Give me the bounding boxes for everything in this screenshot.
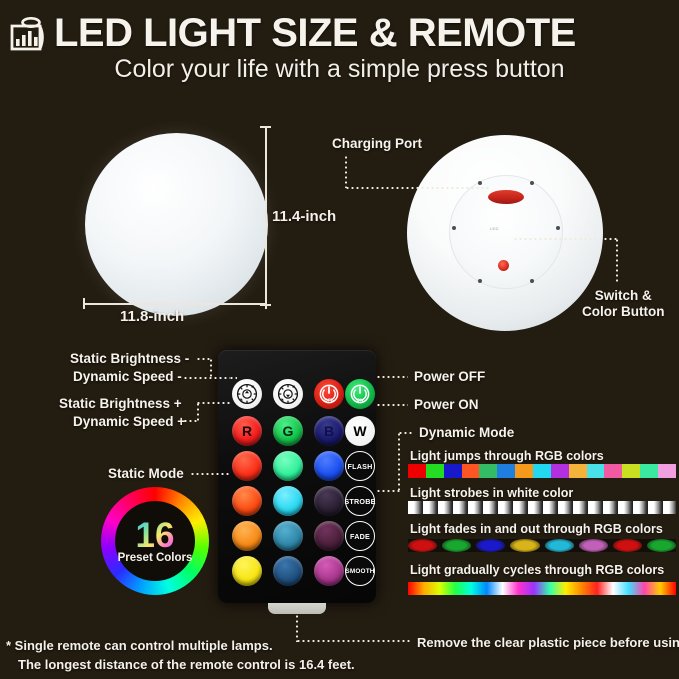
jump-color-segment-14 xyxy=(658,464,676,478)
title-row: LED LIGHT SIZE & REMOTE xyxy=(6,8,679,58)
color-button-w[interactable]: W xyxy=(345,416,375,446)
label-power-on: Power ON xyxy=(414,397,479,413)
leader-plastic-tab-h xyxy=(296,640,411,642)
mode-caption-smooth: Light gradually cycles through RGB color… xyxy=(410,563,664,577)
lamp-chart-logo-icon xyxy=(6,11,50,55)
mode-button-fade-label: FADE xyxy=(350,532,370,541)
color-button-10[interactable] xyxy=(232,556,262,586)
charging-port-label: Charging Port xyxy=(332,136,422,152)
infographic-canvas: LED LIGHT SIZE & REMOTE Color your life … xyxy=(0,0,679,679)
fade-color-pill-5 xyxy=(579,539,608,552)
jump-color-segment-11 xyxy=(604,464,622,478)
height-dimension-label: 11.4-inch xyxy=(272,208,336,225)
jump-color-segment-5 xyxy=(497,464,515,478)
brightness-down-icon[interactable] xyxy=(273,379,303,409)
svg-text:OFF: OFF xyxy=(324,398,333,403)
fade-color-pill-1 xyxy=(442,539,471,552)
color-button-r[interactable]: R xyxy=(232,416,262,446)
leader-power-off xyxy=(376,376,408,378)
color-button-1[interactable] xyxy=(232,451,262,481)
jump-color-segment-3 xyxy=(462,464,480,478)
footer-note-2: The longest distance of the remote contr… xyxy=(18,655,355,675)
jump-color-segment-8 xyxy=(551,464,569,478)
jump-color-segment-9 xyxy=(569,464,587,478)
switch-color-button-label-line2: Color Button xyxy=(582,304,664,320)
jump-color-segment-6 xyxy=(515,464,533,478)
leader-static-mode xyxy=(190,473,230,475)
color-button-8[interactable] xyxy=(273,521,303,551)
width-dimension-label: 11.8-inch xyxy=(120,308,184,325)
label-dynamic-speed-minus: Dynamic Speed - xyxy=(73,369,182,385)
jump-color-segment-10 xyxy=(587,464,605,478)
mode-caption-fade: Light fades in and out through RGB color… xyxy=(410,522,663,536)
width-dimension-line xyxy=(83,303,267,305)
led-globe-lamp xyxy=(85,133,268,316)
color-button-12[interactable] xyxy=(314,556,344,586)
mode-strip-fade xyxy=(408,539,676,552)
color-button-9[interactable] xyxy=(314,521,344,551)
leader-dynamic-mode-h1 xyxy=(376,490,400,492)
mode-button-flash-label: FLASH xyxy=(348,462,373,471)
switch-color-button xyxy=(498,260,509,271)
mode-button-strobe[interactable]: STROBE xyxy=(345,486,375,516)
charging-port xyxy=(488,190,524,204)
note-remove-plastic: Remove the clear plastic piece before us… xyxy=(417,633,679,653)
mode-caption-jump: Light jumps through RGB colors xyxy=(410,449,604,463)
power-on-icon[interactable]: ON xyxy=(345,379,375,409)
preset-colors-count: 16 xyxy=(136,519,175,552)
mode-button-fade[interactable]: FADE xyxy=(345,521,375,551)
color-button-3[interactable] xyxy=(314,451,344,481)
height-dimension-line xyxy=(265,126,267,306)
fade-color-pill-3 xyxy=(510,539,539,552)
leader-dynamic-mode-h2 xyxy=(398,432,414,434)
clear-plastic-tab xyxy=(268,603,326,614)
leader-speed-plus-v xyxy=(197,402,199,421)
leader-plastic-tab-v xyxy=(296,614,298,642)
label-dynamic-speed-plus: Dynamic Speed + xyxy=(73,414,185,430)
fade-color-pill-0 xyxy=(408,539,437,552)
label-static-brightness-plus: Static Brightness + xyxy=(59,396,182,412)
leader-dynamic-speed-minus xyxy=(183,377,230,379)
leader-power-on xyxy=(376,404,408,406)
switch-button-leader-h xyxy=(513,238,618,240)
mode-button-smooth[interactable]: SMOOTH xyxy=(345,556,375,586)
leader-dynamic-speed-plus xyxy=(183,420,199,422)
label-static-mode: Static Mode xyxy=(108,466,184,482)
preset-colors-wheel: 16 Preset Colors xyxy=(101,487,209,595)
footer-note-1: * Single remote can control multiple lam… xyxy=(6,636,273,656)
power-off-icon[interactable]: OFF xyxy=(314,379,344,409)
fade-color-pill-6 xyxy=(613,539,642,552)
fade-color-pill-7 xyxy=(647,539,676,552)
leader-brightness-join xyxy=(229,377,237,379)
switch-color-button-label-line1: Switch & xyxy=(582,288,664,304)
remote-control: OFF ON R G B W FLASH xyxy=(218,350,376,603)
jump-color-segment-7 xyxy=(533,464,551,478)
color-button-g-label: G xyxy=(283,423,294,439)
mode-button-smooth-label: SMOOTH xyxy=(345,568,374,575)
mode-strip-strobe xyxy=(408,501,676,514)
label-dynamic-mode: Dynamic Mode xyxy=(419,425,514,441)
switch-color-button-label: Switch & Color Button xyxy=(582,288,664,320)
color-button-b-label: B xyxy=(324,423,334,439)
fade-color-pill-2 xyxy=(476,539,505,552)
color-button-11[interactable] xyxy=(273,556,303,586)
mode-strip-jump xyxy=(408,464,676,478)
jump-color-segment-2 xyxy=(444,464,462,478)
svg-text:ON: ON xyxy=(357,398,365,403)
charging-port-leader-h xyxy=(345,187,490,189)
leader-dynamic-mode-v xyxy=(398,432,400,490)
jump-color-segment-1 xyxy=(426,464,444,478)
color-button-4[interactable] xyxy=(232,486,262,516)
switch-button-leader-v xyxy=(616,238,618,282)
charging-port-leader-v xyxy=(345,155,347,188)
color-button-2[interactable] xyxy=(273,451,303,481)
jump-color-segment-13 xyxy=(640,464,658,478)
page-title: LED LIGHT SIZE & REMOTE xyxy=(54,12,576,54)
brightness-up-icon[interactable] xyxy=(232,379,262,409)
page-subtitle: Color your life with a simple press butt… xyxy=(0,54,679,84)
jump-color-segment-12 xyxy=(622,464,640,478)
header: LED LIGHT SIZE & REMOTE Color your life … xyxy=(0,0,679,92)
color-button-r-label: R xyxy=(242,423,252,439)
color-button-w-label: W xyxy=(353,423,366,439)
preset-colors-caption: Preset Colors xyxy=(118,552,193,564)
mode-button-strobe-label: STROBE xyxy=(344,497,375,506)
jump-color-segment-4 xyxy=(479,464,497,478)
mode-caption-strobe: Light strobes in white color xyxy=(410,486,573,500)
mode-button-flash[interactable]: FLASH xyxy=(345,451,375,481)
lamp-base-underside: LED xyxy=(407,135,603,331)
leader-static-brightness-minus-v xyxy=(210,358,212,378)
label-power-off: Power OFF xyxy=(414,369,485,385)
jump-color-segment-0 xyxy=(408,464,426,478)
label-static-brightness-minus: Static Brightness - xyxy=(70,351,189,367)
base-marking: LED xyxy=(490,226,499,231)
color-button-b[interactable]: B xyxy=(314,416,344,446)
color-button-5[interactable] xyxy=(273,486,303,516)
fade-color-pill-4 xyxy=(545,539,574,552)
color-button-g[interactable]: G xyxy=(273,416,303,446)
leader-static-brightness-plus xyxy=(196,402,232,404)
mode-strip-smooth xyxy=(408,582,676,595)
color-button-6[interactable] xyxy=(314,486,344,516)
color-button-7[interactable] xyxy=(232,521,262,551)
